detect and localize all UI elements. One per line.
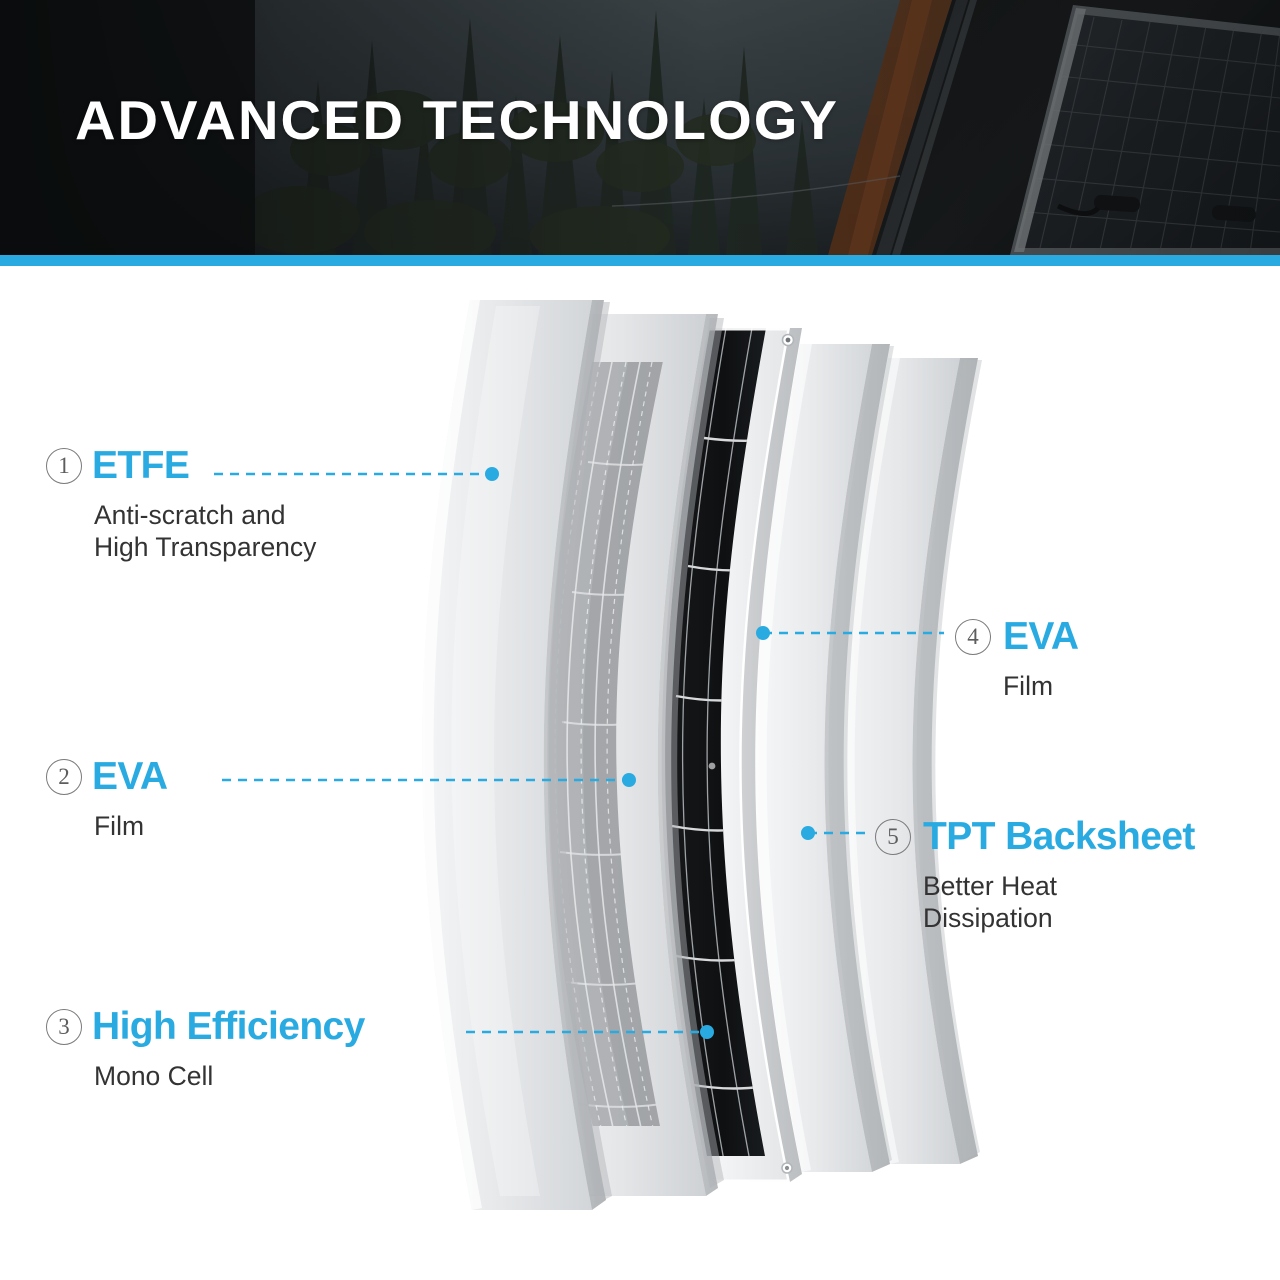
callout-number-1: 1	[46, 448, 82, 484]
callout-number-4: 4	[955, 619, 991, 655]
exploded-panel-diagram	[0, 266, 1280, 1280]
page-title: ADVANCED TECHNOLOGY	[75, 88, 839, 152]
callout-number-2: 2	[46, 759, 82, 795]
callout-subtitle-tpt-backsheet: Better Heat Dissipation	[923, 870, 1195, 934]
callout-title-eva-rear: EVA	[1003, 615, 1079, 659]
callout-subtitle-eva-front: Film	[94, 810, 168, 842]
callout-subtitle-eva-rear: Film	[1003, 670, 1079, 702]
callout-eva-rear-headrow: 4 EVA	[955, 615, 1079, 659]
hero-banner: ADVANCED TECHNOLOGY	[0, 0, 1280, 255]
callout-high-efficiency: 3 High Efficiency Mono Cell	[46, 1005, 365, 1092]
callout-etfe: 1 ETFE Anti-scratch and High Transparenc…	[46, 444, 316, 563]
callout-number-5: 5	[875, 819, 911, 855]
callout-etfe-headrow: 1 ETFE	[46, 444, 316, 488]
callout-eva-front: 2 EVA Film	[46, 755, 168, 842]
callout-tpt-backsheet: 5 TPT Backsheet Better Heat Dissipation	[875, 815, 1195, 934]
callout-number-3: 3	[46, 1009, 82, 1045]
callout-title-high-efficiency: High Efficiency	[92, 1005, 365, 1049]
callout-title-tpt-backsheet: TPT Backsheet	[923, 815, 1195, 859]
callout-subtitle-etfe: Anti-scratch and High Transparency	[94, 499, 316, 563]
callout-eva-rear: 4 EVA Film	[955, 615, 1079, 702]
header-accent-rule	[0, 255, 1280, 266]
callout-subtitle-high-efficiency: Mono Cell	[94, 1060, 365, 1092]
callout-title-eva-front: EVA	[92, 755, 168, 799]
callout-high-efficiency-headrow: 3 High Efficiency	[46, 1005, 365, 1049]
callout-eva-front-headrow: 2 EVA	[46, 755, 168, 799]
callout-title-etfe: ETFE	[92, 444, 189, 488]
callout-tpt-backsheet-headrow: 5 TPT Backsheet	[875, 815, 1195, 859]
